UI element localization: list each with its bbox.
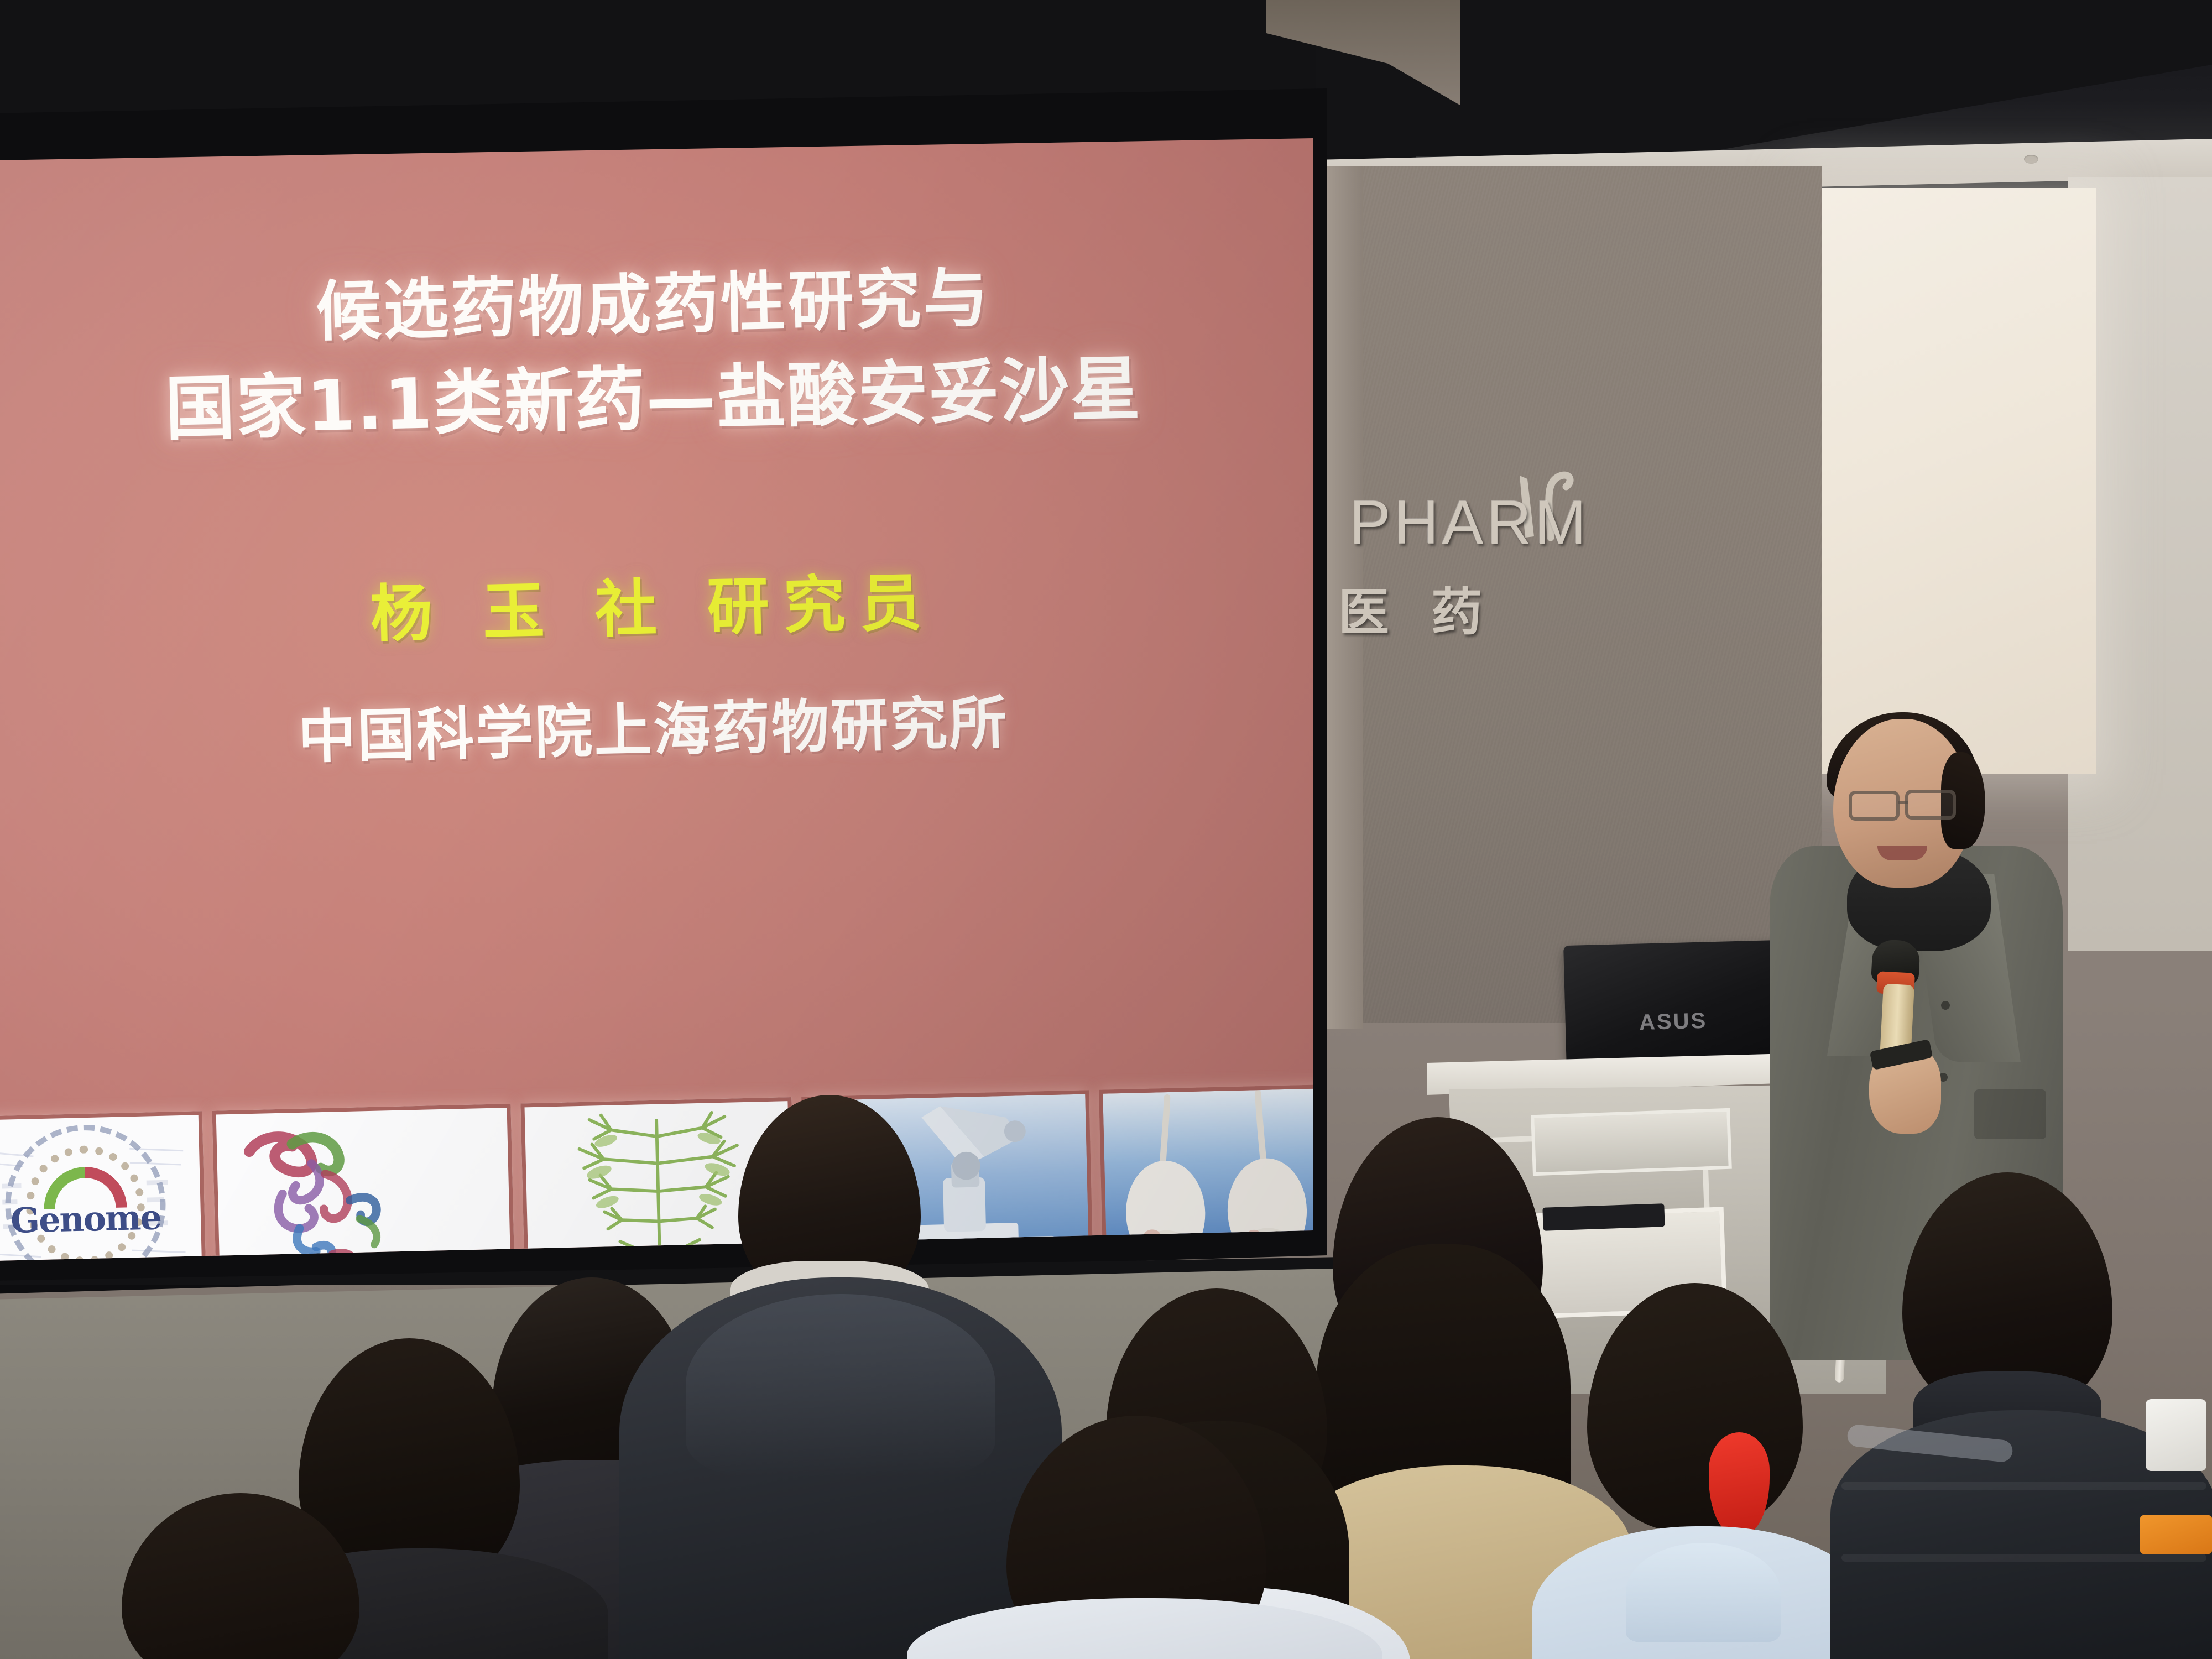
audience-hair: [1587, 1283, 1803, 1532]
presenter-mouth: [1877, 846, 1927, 860]
eyeglasses-lens-right-icon: [1905, 790, 1956, 820]
slide-affiliation: 中国科学院上海药物研究所: [0, 669, 1313, 780]
slide-speaker-name: 杨 玉 社 研究员: [0, 545, 1313, 662]
laptop-on-podium: ASUS: [1563, 940, 1782, 1073]
presentation-slide: 候选药物成药性研究与 国家1.1类新药—盐酸安妥沙星 杨 玉 社 研究员 中国科…: [0, 138, 1313, 1261]
wall-vent: [1531, 1108, 1732, 1176]
paper-cup: [2146, 1399, 2206, 1471]
audience-member-red-hairclip: [1526, 1283, 1880, 1659]
eyeglasses-bridge-icon: [1898, 801, 1908, 804]
genome-label: Genome: [10, 1197, 161, 1241]
wall-light-panel: [1808, 188, 2096, 774]
laptop-brand-label: ASUS: [1639, 1008, 1708, 1035]
protein-ribbon-icon: [216, 1108, 511, 1261]
presenter-jacket-button: [1941, 1001, 1950, 1010]
eyeglasses-lens-left-icon: [1849, 791, 1900, 821]
thumbnail-protein-structure: [212, 1104, 515, 1261]
lecture-hall-photo: PHARM 医 药 候选药物成药性研究与 国家1.1类新药—盐酸安妥沙星 杨 玉…: [0, 0, 2212, 1659]
wall-sign-text: PHARM 医 药: [1327, 487, 1736, 645]
orange-object: [2140, 1515, 2212, 1554]
audience-hood: [1626, 1543, 1781, 1642]
presenter-jacket-pocket: [1974, 1089, 2046, 1139]
audience-member-front-center: [929, 1416, 1349, 1659]
puffer-seam: [1841, 1482, 2206, 1490]
audience-member-far-left: [100, 1493, 387, 1659]
red-hair-clip-icon: [1709, 1432, 1770, 1535]
sign-latin-text: PHARM: [1327, 487, 1736, 558]
recessed-light-icon: [2024, 155, 2038, 164]
thumbnail-genome-circle: Genome: [0, 1111, 206, 1261]
audience-hair: [122, 1493, 359, 1659]
puffer-seam: [1841, 1554, 2206, 1562]
sign-chinese-text: 医 药: [1327, 571, 1736, 645]
audience-white-top: [907, 1598, 1383, 1659]
